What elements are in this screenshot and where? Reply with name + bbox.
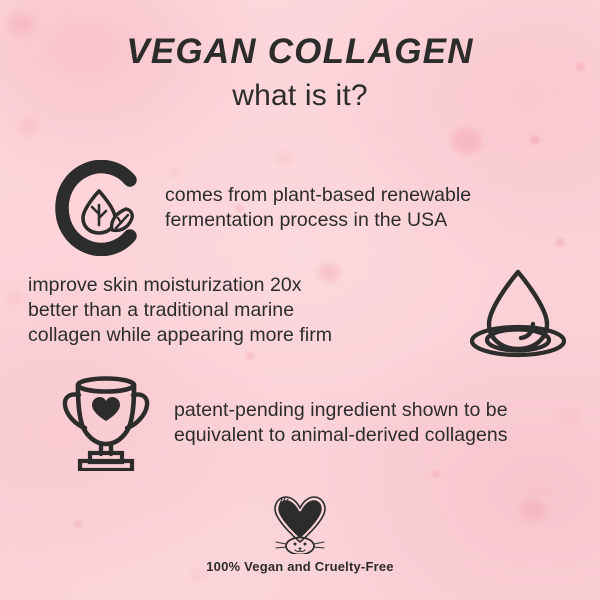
page-title: VEGAN COLLAGEN bbox=[0, 33, 600, 71]
cruelty-free-label: 100% Vegan and Cruelty-Free bbox=[0, 559, 600, 574]
benefit-row-plant-based: comes from plant-based renewable ferment… bbox=[52, 160, 572, 256]
footer-block: 100% Vegan and Cruelty-Free bbox=[0, 496, 600, 574]
water-droplet-ripple-icon bbox=[463, 262, 573, 358]
benefit-row-patent-pending: patent-pending ingredient shown to be eq… bbox=[58, 375, 578, 471]
benefit-text-moisturization: improve skin moisturization 20x better t… bbox=[28, 273, 332, 348]
benefit-text-plant-based: comes from plant-based renewable ferment… bbox=[165, 183, 471, 233]
vegan-collagen-infographic: VEGAN COLLAGEN what is it? comes from pl… bbox=[0, 0, 600, 600]
page-subtitle: what is it? bbox=[0, 79, 600, 112]
collagen-c-leaf-droplet-icon bbox=[52, 160, 150, 256]
benefit-text-patent-pending: patent-pending ingredient shown to be eq… bbox=[174, 398, 508, 448]
benefit-row-moisturization: improve skin moisturization 20x better t… bbox=[28, 262, 573, 358]
cruelty-free-bunny-icon bbox=[0, 496, 600, 554]
header-block: VEGAN COLLAGEN what is it? bbox=[0, 33, 600, 112]
trophy-heart-icon bbox=[58, 375, 154, 471]
